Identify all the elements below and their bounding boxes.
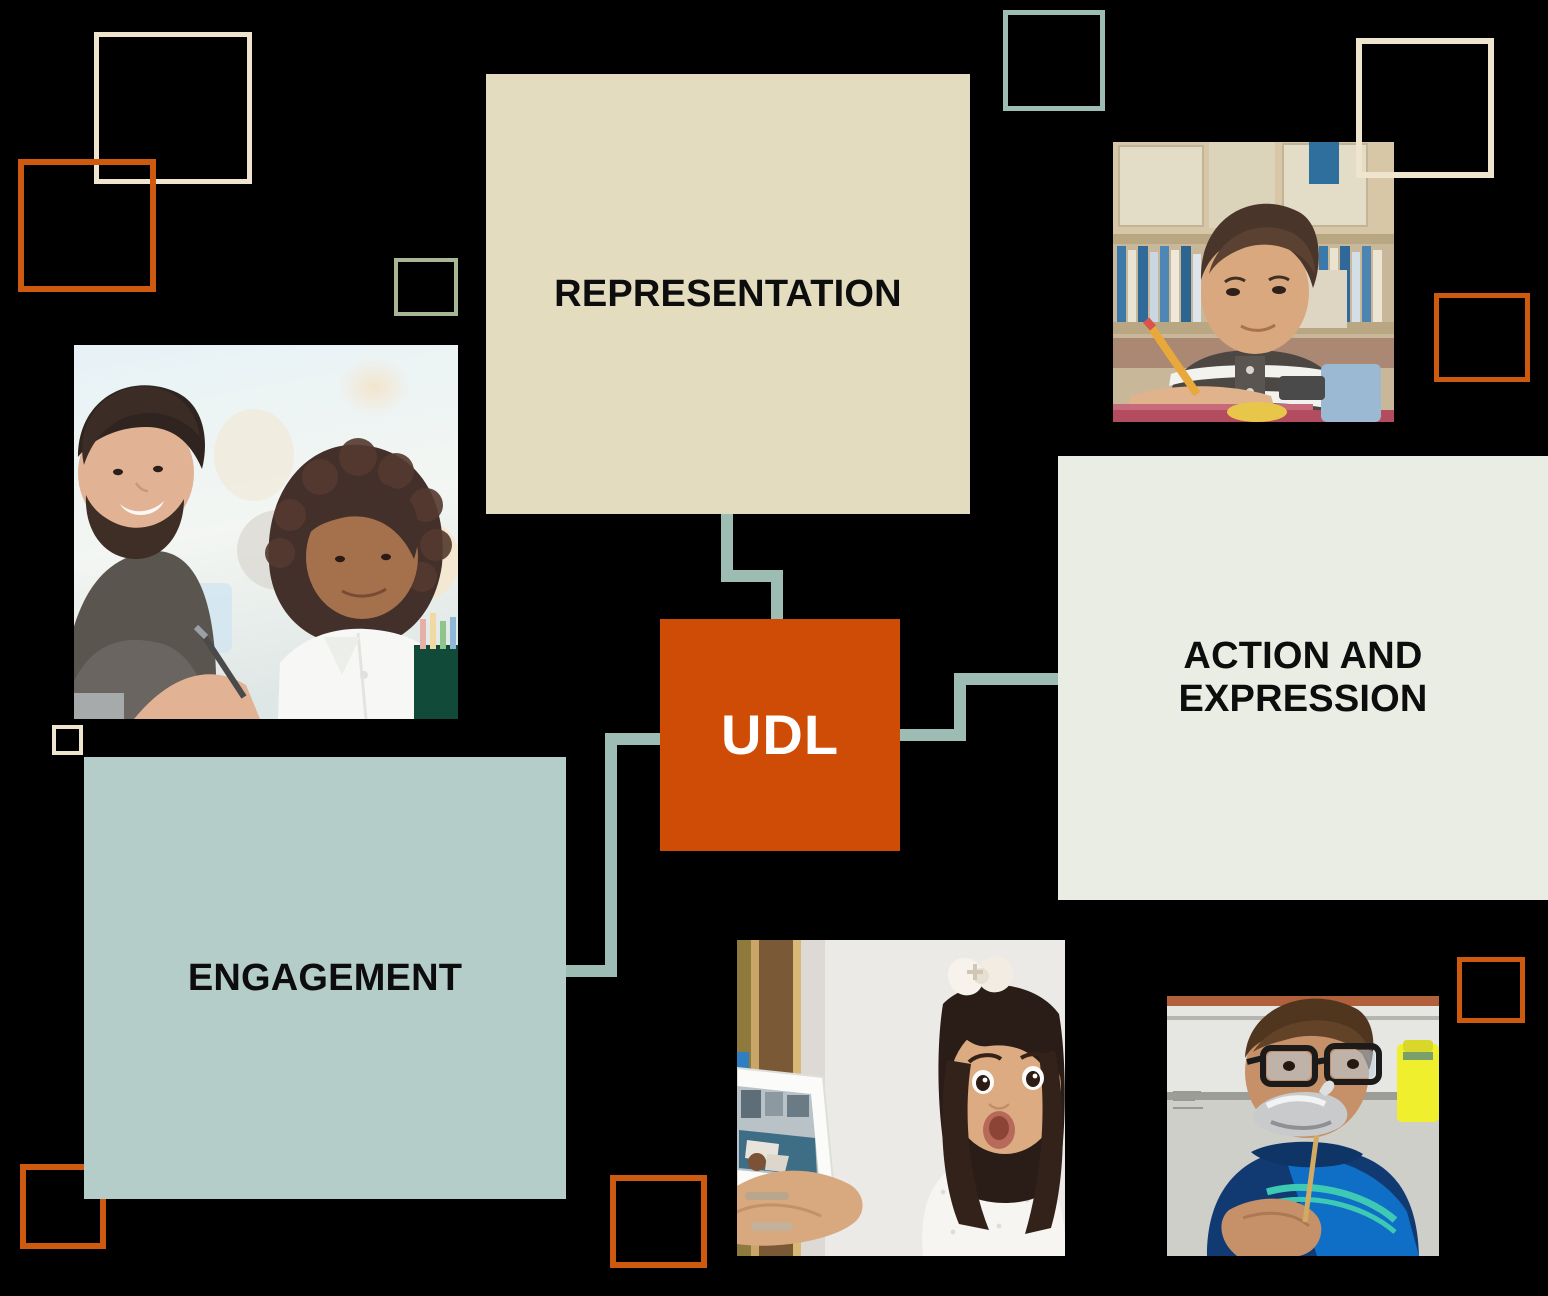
node-action-expression[interactable]: ACTION AND EXPRESSION <box>1058 456 1548 900</box>
photo-boy-science-image <box>1167 996 1439 1256</box>
photo-boy-library <box>1113 142 1394 422</box>
diagram-canvas: REPRESENTATION ACTION AND EXPRESSION ENG… <box>0 0 1548 1296</box>
square-orange-bottom-center-icon <box>610 1175 707 1268</box>
photo-boy-science <box>1167 996 1439 1256</box>
node-action-expression-label: ACTION AND EXPRESSION <box>1138 635 1467 720</box>
connector-representation-vertical-lower <box>771 570 783 624</box>
connector-engagement-horizontal-lower <box>560 965 617 977</box>
connector-engagement-vertical <box>605 733 617 971</box>
node-udl-center[interactable]: UDL <box>660 619 900 851</box>
square-cream-small-left-icon <box>52 725 83 755</box>
photo-boy-library-image <box>1113 142 1394 422</box>
photo-teacher-student <box>74 345 458 719</box>
node-udl-label: UDL <box>721 704 839 767</box>
photo-teacher-student-image <box>74 345 458 719</box>
node-representation[interactable]: REPRESENTATION <box>486 74 970 514</box>
square-orange-right-lower-icon <box>1457 957 1525 1023</box>
node-representation-label: REPRESENTATION <box>554 273 902 316</box>
photo-girl-surprised-image <box>737 940 1065 1256</box>
node-action-expression-line2: EXPRESSION <box>1178 678 1427 720</box>
node-engagement[interactable]: ENGAGEMENT <box>84 757 566 1199</box>
square-olive-small-left-icon <box>394 258 458 316</box>
square-orange-top-left-icon <box>18 159 156 292</box>
square-sage-top-center-icon <box>1003 10 1105 111</box>
node-action-expression-line1: ACTION AND <box>1183 635 1422 677</box>
photo-girl-surprised <box>737 940 1065 1256</box>
square-cream-top-right-icon <box>1356 38 1494 178</box>
node-engagement-label: ENGAGEMENT <box>188 957 462 1000</box>
connector-action-horizontal-outer <box>954 673 1064 685</box>
square-orange-right-upper-icon <box>1434 293 1530 382</box>
connector-representation-vertical-upper <box>721 514 733 576</box>
